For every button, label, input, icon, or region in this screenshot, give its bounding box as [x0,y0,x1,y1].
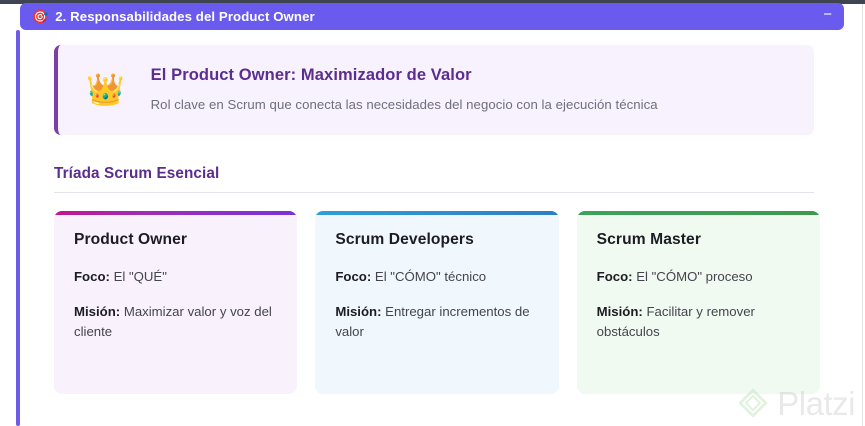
mision-label: Misión: [597,304,643,319]
role-card-mision-row: Misión: Facilitar y remover obstáculos [597,302,800,343]
foco-label: Foco: [597,269,633,284]
section-content: 👑 El Product Owner: Maximizador de Valor… [20,30,844,426]
role-card-foco-row: Foco: El "CÓMO" proceso [597,267,800,288]
foco-value: El "CÓMO" técnico [375,269,486,284]
mision-label: Misión: [74,304,120,319]
role-card-scrum-master[interactable]: Scrum Master Foco: El "CÓMO" proceso Mis… [577,211,820,394]
foco-value: El "QUÉ" [114,269,167,284]
role-card-foco-row: Foco: El "QUÉ" [74,267,277,288]
banner-subtitle: Rol clave en Scrum que conecta las neces… [151,97,796,112]
role-card-scrum-developers[interactable]: Scrum Developers Foco: El "CÓMO" técnico… [315,211,558,394]
role-card-foco-row: Foco: El "CÓMO" técnico [335,267,538,288]
triad-card-grid: Product Owner Foco: El "QUÉ" Misión: Max… [54,211,820,394]
banner-text-block: El Product Owner: Maximizador de Valor R… [151,66,796,112]
role-card-product-owner[interactable]: Product Owner Foco: El "QUÉ" Misión: Max… [54,211,297,394]
triad-heading: Tríada Scrum Esencial [54,165,814,193]
page-root: 🎯 2. Responsabilidades del Product Owner… [0,0,865,426]
banner-title: El Product Owner: Maximizador de Valor [151,66,796,85]
section-title: 2. Responsabilidades del Product Owner [55,9,315,24]
target-icon: 🎯 [32,10,48,23]
role-card-mision-row: Misión: Maximizar valor y voz del client… [74,302,277,343]
collapse-toggle-icon[interactable]: − [823,7,832,27]
mision-label: Misión: [335,304,381,319]
foco-label: Foco: [335,269,371,284]
role-card-mision-row: Misión: Entregar incrementos de valor [335,302,538,343]
role-card-title: Scrum Master [597,231,800,249]
crown-icon: 👑 [86,74,125,105]
highlight-banner: 👑 El Product Owner: Maximizador de Valor… [54,45,814,135]
foco-value: El "CÓMO" proceso [636,269,752,284]
foco-label: Foco: [74,269,110,284]
role-card-title: Product Owner [74,231,277,249]
role-card-title: Scrum Developers [335,231,538,249]
section-header-bar[interactable]: 🎯 2. Responsabilidades del Product Owner… [20,3,844,30]
